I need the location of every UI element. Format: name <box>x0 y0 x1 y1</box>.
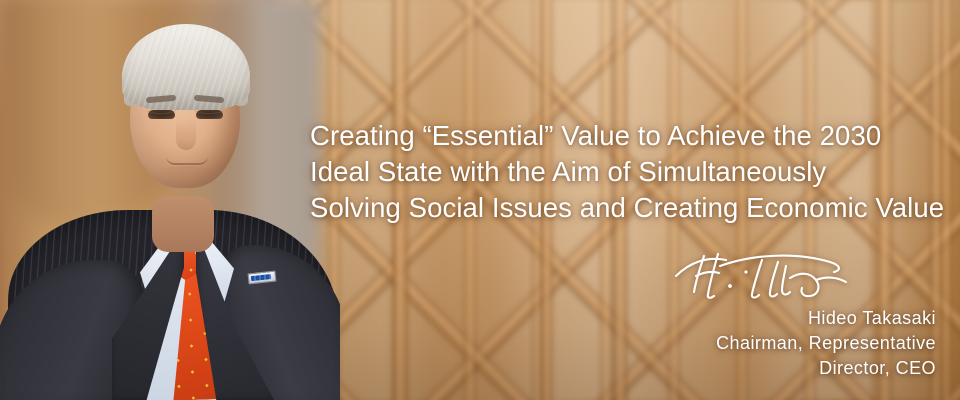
headline-line-2: Ideal State with the Aim of Simultaneous… <box>310 154 955 190</box>
signatory-title-line-2: Director, CEO <box>516 356 936 381</box>
hair <box>122 24 250 110</box>
headline-line-1: Creating “Essential” Value to Achieve th… <box>310 118 955 154</box>
mouth <box>166 156 208 165</box>
executive-message-banner: Creating “Essential” Value to Achieve th… <box>0 0 960 400</box>
chin-shadow <box>152 166 222 186</box>
signatory-credit: Hideo Takasaki Chairman, Representative … <box>516 306 936 381</box>
signature-icon <box>674 246 864 304</box>
neck <box>152 196 214 252</box>
eyelid-left <box>146 105 176 114</box>
headline-line-3: Solving Social Issues and Creating Econo… <box>310 190 955 226</box>
nose <box>176 118 196 150</box>
eyelid-right <box>194 105 224 114</box>
page-title: Creating “Essential” Value to Achieve th… <box>310 118 955 226</box>
portrait-photo <box>0 0 340 400</box>
signatory-name: Hideo Takasaki <box>516 306 936 331</box>
signatory-title-line-1: Chairman, Representative <box>516 331 936 356</box>
